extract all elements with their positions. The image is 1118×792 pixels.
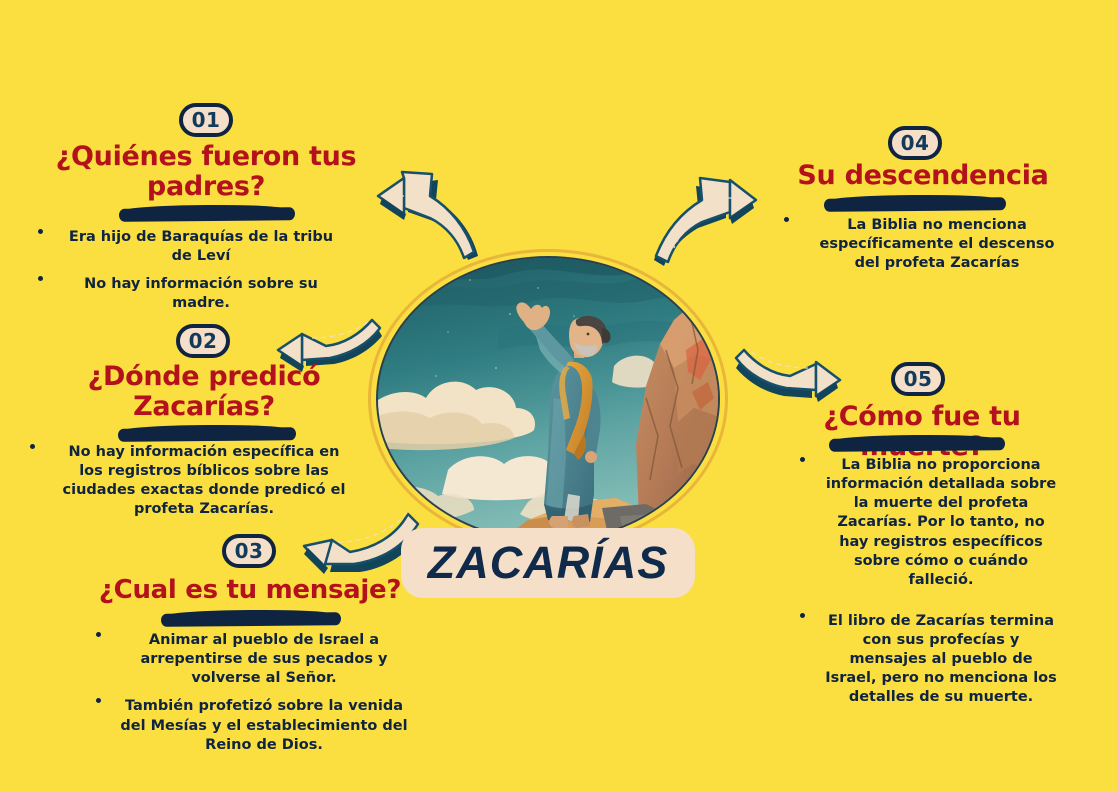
section-underline-03 [161,612,341,627]
bullet-dot [800,613,805,618]
bullet-dot [38,276,43,281]
section-bullets-02: No hay información específica en los reg… [56,443,352,520]
section-underline-01 [119,207,295,222]
bullet-dot [30,444,35,449]
prophet-scene-svg [378,258,718,540]
section-underline-04 [824,197,1006,212]
list-item: La Biblia no proporciona información det… [822,456,1060,590]
bullet-text: Era hijo de Baraquías de la tribu de Lev… [69,229,333,264]
list-item: Animar al pueblo de Israel a arrepentirs… [118,631,410,688]
bullet-text: La Biblia no proporciona información det… [826,457,1056,588]
section-badge-03: 03 [222,534,276,568]
section-badge-03-number: 03 [235,539,264,563]
section-badge-01: 01 [179,103,233,137]
section-badge-05: 05 [891,362,945,396]
bullet-text: El libro de Zacarías termina con sus pro… [825,613,1057,706]
center-title-banner: ZACARÍAS [401,528,695,598]
section-heading-03: ¿Cual es tu mensaje? [92,576,408,605]
section-badge-01-number: 01 [192,108,221,132]
bullet-dot [38,229,43,234]
section-heading-04: Su descendencia [778,161,1068,191]
arrow-to-section-04 [644,166,768,272]
list-item: El libro de Zacarías termina con sus pro… [822,612,1060,708]
section-badge-05-number: 05 [904,367,933,391]
bullet-dot [96,698,101,703]
bullet-text: No hay información sobre su madre. [84,276,318,311]
section-underline-05 [829,437,1005,452]
section-underline-02 [118,427,296,442]
bullet-text: Animar al pueblo de Israel a arrepentirs… [141,632,388,686]
section-bullets-01: Era hijo de Baraquías de la tribu de Lev… [60,228,342,314]
section-badge-02: 02 [176,324,230,358]
list-item: También profetizó sobre la venida del Me… [118,697,410,754]
list-item: La Biblia no menciona específicamente el… [806,216,1068,273]
section-badge-02-number: 02 [189,329,218,353]
section-bullets-03: Animar al pueblo de Israel a arrepentirs… [118,631,410,755]
bullet-text: También profetizó sobre la venida del Me… [120,698,407,752]
bullet-dot [800,457,805,462]
section-heading-05: ¿Cómo fue tu muerte? [762,402,1082,462]
section-bullets-04: La Biblia no menciona específicamente el… [806,216,1068,273]
list-item: Era hijo de Baraquías de la tribu de Lev… [60,228,342,266]
list-item: No hay información sobre su madre. [60,275,342,313]
section-badge-04-number: 04 [901,131,930,155]
bullet-text: La Biblia no menciona específicamente el… [819,217,1054,271]
list-item: No hay información específica en los reg… [56,443,352,520]
section-heading-01: ¿Quiénes fueron tus padres? [48,142,364,202]
infographic-canvas: ZACARÍAS [0,0,1118,792]
prophet-illustration-image [378,258,718,540]
section-bullets-05: La Biblia no proporciona información det… [822,456,1060,708]
bullet-dot [96,632,101,637]
illustration-frame [376,256,720,542]
section-heading-02: ¿Dónde predicó Zacarías? [64,362,344,422]
bullet-dot [784,217,789,222]
page-title: ZACARÍAS [428,537,669,589]
arrow-to-section-01 [364,162,486,272]
bullet-text: No hay información específica en los reg… [63,444,346,517]
section-badge-04: 04 [888,126,942,160]
